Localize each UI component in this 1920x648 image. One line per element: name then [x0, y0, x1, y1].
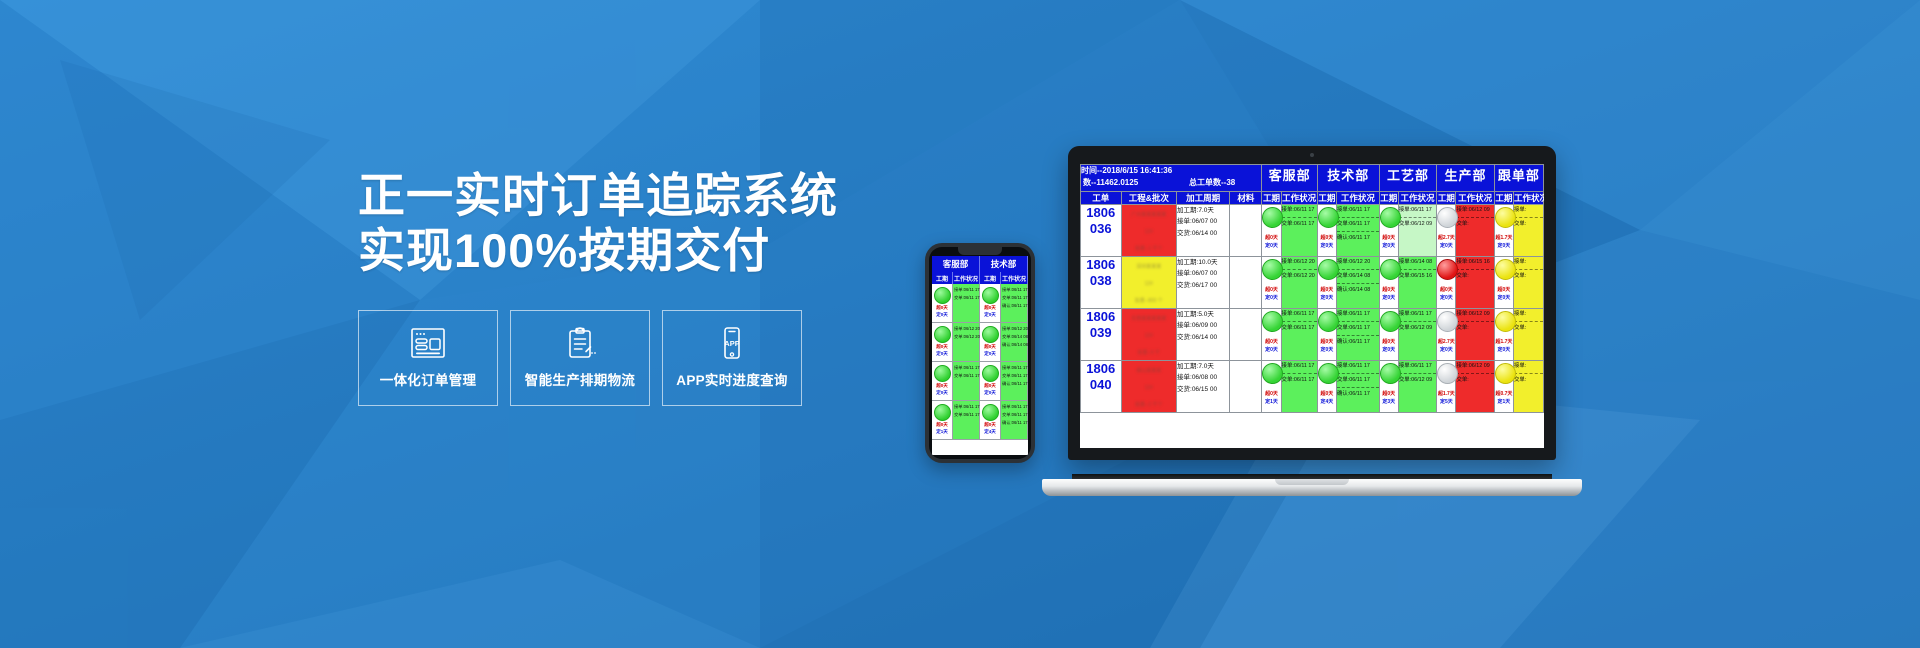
work-line: 接单:06/14 08: [1399, 257, 1436, 268]
status-dot-green-icon: [934, 404, 951, 421]
overdue-tag: 超0天: [1262, 234, 1280, 242]
laptop-base: [1042, 479, 1582, 496]
phone-work-cell-jishu[interactable]: 接单:06/11 17交单:06/11 17确认:06/11 17: [1001, 401, 1028, 439]
due-tag: 定0天: [1495, 346, 1513, 354]
phone-notch: [958, 247, 1002, 255]
divider: [1399, 217, 1436, 218]
work-line: 交单:06/11 17: [1282, 375, 1317, 386]
overdue-tag: 超0天: [1318, 338, 1336, 346]
divider: [1282, 373, 1317, 374]
work-line: 接单:06/12 20: [1002, 325, 1026, 333]
phone-row-list: 超0天定0天接单:06/11 17交单:06/11 17超0天定0天接单:06/…: [932, 284, 1028, 440]
work-line: 接单:06/11 17: [1399, 309, 1436, 320]
status-dot-green-icon: [1380, 311, 1401, 332]
overdue-tag: 超0天: [984, 383, 996, 389]
work-status-cell-跟单部[interactable]: 接单:交单:: [1514, 205, 1544, 257]
col-header-gongqi-jishu: 工期: [1317, 192, 1336, 205]
cycle-line: 加工期:7.0天: [1177, 361, 1229, 372]
overdue-tag: 超0天: [1318, 286, 1336, 294]
due-tag: 定5天: [1437, 398, 1455, 406]
overdue-tag: 超0天: [1380, 286, 1398, 294]
phone-table-row[interactable]: 超0天定0天接单:06/11 17交单:06/11 17超0天定0天接单:06/…: [932, 362, 1028, 401]
work-line: 接单:: [1514, 309, 1543, 320]
status-dot-green-icon: [1318, 259, 1339, 280]
duration-cell-工艺部[interactable]: 超0天定3天: [1379, 361, 1398, 413]
phone-work-cell-jishu[interactable]: 接单:06/12 20交单:06/14 08确认:06/14 08: [1001, 323, 1028, 361]
overdue-tag: 超0天: [984, 305, 996, 311]
divider: [1456, 373, 1493, 374]
processing-cycle-cell[interactable]: 加工期:10.0天接单:06/07 00交货:06/17 00: [1177, 257, 1230, 309]
due-tag: 定4天: [984, 429, 996, 435]
phone-status-cell-kefu[interactable]: 超0天定1天: [932, 401, 953, 439]
phone-table-row[interactable]: 超0天定0天接单:06/12 20交单:06/12 20超0天定0天接单:06/…: [932, 323, 1028, 362]
work-line: 接单:06/11 17: [1002, 403, 1026, 411]
work-line: 接单:06/11 17: [1337, 205, 1379, 216]
divider: [1456, 321, 1493, 322]
divider: [1337, 283, 1379, 284]
overdue-tag: 超0天: [1262, 286, 1280, 294]
system-time: 时间--2018/6/15 16:41:36: [1081, 165, 1261, 176]
work-line: 确认:06/11 17: [1337, 233, 1379, 244]
overdue-tag: 超1.7天: [1495, 338, 1513, 346]
work-order-cell[interactable]: 1806040: [1081, 361, 1122, 413]
cycle-line: 交货:06/14 00: [1177, 228, 1229, 239]
dept-header-gendan: 跟单部: [1494, 165, 1543, 192]
divider: [1514, 321, 1543, 322]
duration-cell-客服部[interactable]: 超0天定1天: [1262, 361, 1281, 413]
processing-cycle-cell[interactable]: 加工期:7.0天接单:06/08 00交货:06/15 00: [1177, 361, 1230, 413]
feature-label: 智能生产排期物流: [525, 369, 635, 389]
col-header-status-kefu: 工作状况: [1281, 192, 1317, 205]
mobile-app-icon: APP: [712, 326, 752, 360]
work-line: 确认:06/11 17: [1002, 302, 1026, 310]
work-order-cell[interactable]: 1806036: [1081, 205, 1122, 257]
due-tag: 定0天: [1318, 346, 1336, 354]
work-status-cell-客服部[interactable]: 接单:06/11 17交单:06/11 17: [1281, 361, 1317, 413]
due-tag: 定0天: [984, 351, 996, 357]
work-line: 交单:: [1514, 323, 1543, 334]
phone-sub-status-2: 工作状况: [1001, 272, 1028, 284]
work-line: 交单:06/11 17: [954, 294, 978, 302]
duration-cell-技术部[interactable]: 超0天定0天: [1317, 257, 1336, 309]
table-body: 1806036广州某某某某某12#批量--1 千个加工期:7.0天接单:06/0…: [1081, 205, 1544, 413]
col-header-gongcheng-pici: 工程&批次: [1121, 192, 1176, 205]
work-line: 交单:06/11 17: [1002, 411, 1026, 419]
work-order-prefix: 1806: [1081, 257, 1121, 273]
work-line: 接单:06/12 20: [954, 325, 978, 333]
due-tag: 定0天: [936, 351, 948, 357]
duration-cell-跟单部[interactable]: 超1.7天定0天: [1494, 309, 1513, 361]
status-dot-green-icon: [1262, 363, 1283, 384]
duration-cell-生产部[interactable]: 超2.7天定0天: [1437, 309, 1456, 361]
dept-header-kefu: 客服部: [1262, 165, 1317, 192]
processing-cycle-cell[interactable]: 加工期:7.0天接单:06/07 00交货:06/14 00: [1177, 205, 1230, 257]
batch-line: 12#: [1122, 274, 1176, 291]
divider: [1337, 321, 1379, 322]
phone-screen[interactable]: 客服部 技术部 工期 工作状况 工期 工作状况 超0天定0天接单:06/11 1…: [932, 256, 1028, 455]
work-status-cell-工艺部[interactable]: 接单:06/11 17交单:06/12 09: [1398, 361, 1436, 413]
duration-cell-跟单部[interactable]: 超0.7天定1天: [1494, 361, 1513, 413]
work-line: 交单:06/11 17: [1002, 294, 1026, 302]
material-cell[interactable]: [1230, 205, 1262, 257]
phone-dept-kefu: 客服部: [932, 256, 980, 272]
due-tag: 定0天: [1262, 346, 1280, 354]
work-status-cell-生产部[interactable]: 接单:06/12 09交单:: [1456, 309, 1494, 361]
divider: [1399, 321, 1436, 322]
due-tag: 定0天: [1262, 294, 1280, 302]
work-line: 接单:06/11 17: [954, 403, 978, 411]
overdue-tag: 超0天: [936, 383, 948, 389]
project-batch-cell[interactable]: 广州某某某某某12#批量--1 千个: [1121, 205, 1176, 257]
table-column-header-row: 工单 工程&批次 加工周期 材料 工期 工作状况 工期 工作状况 工期 工作状况…: [1081, 192, 1544, 205]
work-line: 交单:06/12 09: [1399, 323, 1436, 334]
cycle-line: 接单:06/07 00: [1177, 216, 1229, 227]
work-status-cell-客服部[interactable]: 接单:06/11 17交单:06/11 17: [1281, 309, 1317, 361]
laptop-screen[interactable]: 时间--2018/6/15 16:41:36 数--11462.0125 总工单…: [1080, 164, 1544, 448]
work-status-cell-客服部[interactable]: 接单:06/11 17交单:06/11 17: [1281, 205, 1317, 257]
due-tag: 定0天: [1437, 346, 1455, 354]
col-header-gongqi-gongyi: 工期: [1379, 192, 1398, 205]
phone-sub-status-1: 工作状况: [953, 272, 980, 284]
work-order-prefix: 1806: [1081, 361, 1121, 377]
work-status-cell-技术部[interactable]: 接单:06/11 17交单:06/11 17确认:06/11 17: [1337, 205, 1380, 257]
col-header-cailiao: 材料: [1230, 192, 1262, 205]
work-line: 接单:: [1514, 361, 1543, 372]
duration-cell-工艺部[interactable]: 超0天定0天: [1379, 205, 1398, 257]
work-status-cell-客服部[interactable]: 接单:06/12 20交单:06/12 20: [1281, 257, 1317, 309]
batch-line: 批量--2 千个: [1122, 395, 1176, 412]
webcam-icon: [1310, 153, 1314, 157]
col-header-gongqi-gendan: 工期: [1494, 192, 1513, 205]
status-dot-green-icon: [1318, 207, 1339, 228]
work-line: 交单:06/11 17: [954, 411, 978, 419]
project-batch-cell[interactable]: 佛山某某某12#批量--2 千个: [1121, 361, 1176, 413]
status-dot-green-icon: [1318, 311, 1339, 332]
due-tag: 定0天: [1380, 242, 1398, 250]
overdue-tag: 超0天: [1262, 390, 1280, 398]
divider: [1399, 373, 1436, 374]
divider: [1456, 217, 1493, 218]
phone-work-cell-kefu[interactable]: 接单:06/11 17交单:06/11 17: [953, 284, 980, 322]
duration-cell-技术部[interactable]: 超0天定0天: [1317, 309, 1336, 361]
due-tag: 定0天: [936, 312, 948, 318]
feature-label: 一体化订单管理: [380, 369, 477, 389]
status-dot-green-icon: [1380, 207, 1401, 228]
work-order-suffix: 039: [1081, 325, 1121, 341]
headline-line-2: 实现100%按期交付: [358, 223, 918, 278]
work-line: 接单:06/12 09: [1456, 361, 1493, 372]
work-line: 交单:06/12 20: [1282, 271, 1317, 282]
phone-table-row[interactable]: 超0天定0天接单:06/11 17交单:06/11 17超0天定0天接单:06/…: [932, 284, 1028, 323]
duration-cell-生产部[interactable]: 超1.7天定5天: [1437, 361, 1456, 413]
dept-header-jishu: 技术部: [1317, 165, 1379, 192]
table-row[interactable]: 1806036广州某某某某某12#批量--1 千个加工期:7.0天接单:06/0…: [1081, 205, 1544, 257]
duration-cell-跟单部[interactable]: 超0天定0天: [1494, 257, 1513, 309]
work-line: 接单:06/11 17: [1002, 364, 1026, 372]
divider: [1514, 269, 1543, 270]
work-status-cell-技术部[interactable]: 接单:06/11 17交单:06/11 17确认:06/11 17: [1337, 309, 1380, 361]
status-dot-green-icon: [1262, 259, 1283, 280]
feature-app-progress[interactable]: APP APP实时进度查询: [662, 310, 802, 406]
work-line: 接单:06/12 09: [1456, 205, 1493, 216]
cycle-line: 交货:06/17 00: [1177, 280, 1229, 291]
order-tracking-table[interactable]: 时间--2018/6/15 16:41:36 数--11462.0125 总工单…: [1080, 164, 1544, 413]
divider: [1337, 335, 1379, 336]
phone-status-cell-jishu[interactable]: 超0天定0天: [980, 284, 1001, 322]
duration-cell-生产部[interactable]: 超2.7天定0天: [1437, 205, 1456, 257]
phone-status-cell-jishu[interactable]: 超0天定4天: [980, 401, 1001, 439]
col-header-gongdan: 工单: [1081, 192, 1122, 205]
batch-line: 12#: [1122, 222, 1176, 239]
work-line: 确认:06/11 17: [1337, 337, 1379, 348]
overdue-tag: 超0天: [936, 344, 948, 350]
work-status-cell-跟单部[interactable]: 接单:交单:: [1514, 361, 1544, 413]
col-header-status-gendan: 工作状况: [1514, 192, 1544, 205]
divider: [1282, 269, 1317, 270]
work-line: 接单:06/11 17: [1282, 205, 1317, 216]
overdue-tag: 超1.7天: [1495, 234, 1513, 242]
dept-header-gongyi: 工艺部: [1379, 165, 1437, 192]
status-dot-green-icon: [982, 287, 999, 304]
work-line: 接单:06/12 09: [1456, 309, 1493, 320]
overdue-tag: 超0天: [984, 422, 996, 428]
work-line: 交单:: [1456, 271, 1493, 282]
batch-line: 12#: [1122, 378, 1176, 395]
due-tag: 定1天: [936, 429, 948, 435]
phone-status-cell-kefu[interactable]: 超0天定0天: [932, 362, 953, 400]
work-line: 交单:: [1514, 219, 1543, 230]
phone-department-header: 客服部 技术部: [932, 256, 1028, 272]
overdue-tag: 超0天: [1318, 390, 1336, 398]
work-line: 交单:06/11 17: [954, 372, 978, 380]
status-dot-yellow-icon: [1495, 207, 1516, 228]
overdue-tag: 超0天: [1380, 234, 1398, 242]
status-dot-green-icon: [1318, 363, 1339, 384]
work-status-cell-工艺部[interactable]: 接单:06/11 17交单:06/12 09: [1398, 309, 1436, 361]
divider: [1337, 231, 1379, 232]
phone-table-row[interactable]: 超0天定1天接单:06/11 17交单:06/11 17超0天定4天接单:06/…: [932, 401, 1028, 440]
overdue-tag: 超1.7天: [1437, 390, 1455, 398]
due-tag: 定0天: [1437, 242, 1455, 250]
work-line: 接单:06/11 17: [954, 364, 978, 372]
work-line: 交单:06/11 17: [1282, 219, 1317, 230]
work-line: 接单:06/11 17: [1399, 361, 1436, 372]
work-line: 交单:: [1456, 375, 1493, 386]
status-dot-green-icon: [982, 365, 999, 382]
work-line: 接单:: [1514, 205, 1543, 216]
work-order-suffix: 038: [1081, 273, 1121, 289]
divider: [1337, 217, 1379, 218]
table-info-row: 时间--2018/6/15 16:41:36 数--11462.0125 总工单…: [1081, 165, 1544, 192]
work-line: 交单:06/14 08: [1337, 271, 1379, 282]
work-line: 交单:: [1456, 219, 1493, 230]
work-line: 接单:06/11 17: [1002, 286, 1026, 294]
status-dot-green-icon: [934, 287, 951, 304]
batch-line: 佛山某某某: [1122, 361, 1176, 378]
status-dot-green-icon: [934, 365, 951, 382]
phone-work-cell-kefu[interactable]: 接单:06/12 20交单:06/12 20: [953, 323, 980, 361]
phone-status-cell-jishu[interactable]: 超0天定0天: [980, 323, 1001, 361]
duration-cell-技术部[interactable]: 超0天定4天: [1317, 361, 1336, 413]
work-order-cell[interactable]: 1806038: [1081, 257, 1122, 309]
status-dot-green-icon: [982, 326, 999, 343]
phone-status-cell-kefu[interactable]: 超0天定0天: [932, 284, 953, 322]
hero-copy: 正一实时订单追踪系统 实现100%按期交付 一体化订单管理: [358, 168, 918, 406]
overdue-tag: 超0天: [1380, 338, 1398, 346]
batch-line: 东莞某某某某某: [1122, 309, 1176, 326]
overdue-tag: 超0天: [1380, 390, 1398, 398]
overdue-tag: 超2.7天: [1437, 338, 1455, 346]
col-header-status-jishu: 工作状况: [1337, 192, 1380, 205]
overdue-tag: 超0天: [936, 422, 948, 428]
due-tag: 定0天: [1380, 294, 1398, 302]
table-row[interactable]: 1806039东莞某某某某某12#批量--5 千加工期:5.0天接单:06/09…: [1081, 309, 1544, 361]
work-order-cell[interactable]: 1806039: [1081, 309, 1122, 361]
work-status-cell-技术部[interactable]: 接单:06/11 17交单:06/11 17确认:06/11 17: [1337, 361, 1380, 413]
material-cell[interactable]: [1230, 361, 1262, 413]
work-line: 交单:: [1514, 271, 1543, 282]
due-tag: 定0天: [1318, 242, 1336, 250]
work-status-cell-跟单部[interactable]: 接单:交单:: [1514, 309, 1544, 361]
due-tag: 定0天: [1495, 242, 1513, 250]
work-line: 接单:06/12 20: [1337, 257, 1379, 268]
material-cell[interactable]: [1230, 257, 1262, 309]
work-line: 交单:: [1514, 375, 1543, 386]
due-tag: 定0天: [936, 390, 948, 396]
due-tag: 定0天: [984, 312, 996, 318]
work-line: 交单:06/11 17: [1337, 323, 1379, 334]
duration-cell-客服部[interactable]: 超0天定0天: [1262, 257, 1281, 309]
work-line: 接单:06/11 17: [954, 286, 978, 294]
divider: [1514, 217, 1543, 218]
duration-cell-生产部[interactable]: 超0天定0天: [1437, 257, 1456, 309]
work-line: 确认:06/11 17: [1337, 389, 1379, 400]
cycle-line: 接单:06/07 00: [1177, 268, 1229, 279]
total-orders: 总工单数--38: [1189, 177, 1235, 188]
work-order-suffix: 040: [1081, 377, 1121, 393]
work-line: 确认:06/11 17: [1002, 419, 1026, 427]
phone-work-cell-jishu[interactable]: 接单:06/11 17交单:06/11 17确认:06/11 17: [1001, 362, 1028, 400]
work-status-cell-生产部[interactable]: 接单:06/12 09交单:: [1456, 205, 1494, 257]
project-batch-cell[interactable]: 深圳某某某12#批量--800 个: [1121, 257, 1176, 309]
phone-sub-gongqi-1: 工期: [932, 272, 953, 284]
phone-subheader: 工期 工作状况 工期 工作状况: [932, 272, 1028, 284]
work-status-cell-生产部[interactable]: 接单:06/15 16交单:: [1456, 257, 1494, 309]
overdue-tag: 超0天: [984, 344, 996, 350]
table-row[interactable]: 1806040佛山某某某12#批量--2 千个加工期:7.0天接单:06/08 …: [1081, 361, 1544, 413]
divider: [1282, 217, 1317, 218]
duration-cell-技术部[interactable]: 超0天定0天: [1317, 205, 1336, 257]
due-tag: 定0天: [984, 390, 996, 396]
phone-status-cell-jishu[interactable]: 超0天定0天: [980, 362, 1001, 400]
cycle-line: 接单:06/09 00: [1177, 320, 1229, 331]
batch-line: 批量--5 千: [1122, 343, 1176, 360]
work-line: 交单:: [1456, 323, 1493, 334]
cycle-line: 加工期:5.0天: [1177, 309, 1229, 320]
work-status-cell-工艺部[interactable]: 接单:06/14 08交单:06/15 16: [1398, 257, 1436, 309]
batch-line: 12#: [1122, 326, 1176, 343]
divider: [1514, 373, 1543, 374]
divider: [1337, 269, 1379, 270]
col-header-jiagong-zhouqi: 加工周期: [1177, 192, 1230, 205]
table-row[interactable]: 1806038深圳某某某12#批量--800 个加工期:10.0天接单:06/0…: [1081, 257, 1544, 309]
feature-label: APP实时进度查询: [676, 369, 787, 389]
work-line: 交单:06/12 09: [1399, 375, 1436, 386]
divider: [1399, 269, 1436, 270]
overdue-tag: 超0天: [1437, 286, 1455, 294]
work-line: 交单:06/11 17: [1337, 219, 1379, 230]
overdue-tag: 超0天: [936, 305, 948, 311]
work-line: 交单:06/14 08: [1002, 333, 1026, 341]
phone-work-cell-kefu[interactable]: 接单:06/11 17交单:06/11 17: [953, 401, 980, 439]
work-line: 接单:06/11 17: [1337, 361, 1379, 372]
processing-cycle-cell[interactable]: 加工期:5.0天接单:06/09 00交货:06/14 00: [1177, 309, 1230, 361]
status-dot-red-icon: [1437, 259, 1458, 280]
work-order-suffix: 036: [1081, 221, 1121, 237]
divider: [1456, 269, 1493, 270]
work-order-prefix: 1806: [1081, 309, 1121, 325]
material-cell[interactable]: [1230, 309, 1262, 361]
status-dot-green-icon: [982, 404, 999, 421]
phone-work-cell-jishu[interactable]: 接单:06/11 17交单:06/11 17确认:06/11 17: [1001, 284, 1028, 322]
work-line: 确认:06/11 17: [1002, 380, 1026, 388]
work-line: 确认:06/14 08: [1002, 341, 1026, 349]
due-tag: 定4天: [1318, 398, 1336, 406]
work-line: 接单:: [1514, 257, 1543, 268]
due-tag: 定0天: [1380, 346, 1398, 354]
feature-production-schedule[interactable]: 智能生产排期物流: [510, 310, 650, 406]
work-line: 接单:06/11 17: [1282, 361, 1317, 372]
work-status-cell-跟单部[interactable]: 接单:交单:: [1514, 257, 1544, 309]
duration-cell-客服部[interactable]: 超0天定0天: [1262, 205, 1281, 257]
status-dot-yellow-icon: [1495, 259, 1516, 280]
work-status-cell-技术部[interactable]: 接单:06/12 20交单:06/14 08确认:06/14 08: [1337, 257, 1380, 309]
overdue-tag: 超0天: [1318, 234, 1336, 242]
due-tag: 定0天: [1262, 242, 1280, 250]
phone-dept-jishu: 技术部: [980, 256, 1028, 272]
work-line: 接单:06/12 20: [1282, 257, 1317, 268]
due-tag: 定3天: [1380, 398, 1398, 406]
work-line: 接单:06/15 16: [1456, 257, 1493, 268]
work-status-cell-工艺部[interactable]: 接单:06/11 17交单:06/12 09: [1398, 205, 1436, 257]
due-tag: 定0天: [1495, 294, 1513, 302]
work-status-cell-生产部[interactable]: 接单:06/12 09交单:: [1456, 361, 1494, 413]
cycle-line: 接单:06/08 00: [1177, 372, 1229, 383]
project-batch-cell[interactable]: 东莞某某某某某12#批量--5 千: [1121, 309, 1176, 361]
svg-text:APP: APP: [724, 339, 739, 348]
phone-status-cell-kefu[interactable]: 超0天定0天: [932, 323, 953, 361]
status-dot-green-icon: [1262, 311, 1283, 332]
dept-header-shengchan: 生产部: [1437, 165, 1495, 192]
phone-work-cell-kefu[interactable]: 接单:06/11 17交单:06/11 17: [953, 362, 980, 400]
batch-line: 深圳某某某: [1122, 257, 1176, 274]
status-dot-grey-icon: [1437, 311, 1458, 332]
duration-cell-跟单部[interactable]: 超1.7天定0天: [1494, 205, 1513, 257]
work-line: 交单:06/11 17: [1002, 372, 1026, 380]
status-dot-green-icon: [934, 326, 951, 343]
col-header-status-shengchan: 工作状况: [1456, 192, 1494, 205]
cycle-line: 加工期:7.0天: [1177, 205, 1229, 216]
feature-order-management[interactable]: 一体化订单管理: [358, 310, 498, 406]
duration-cell-工艺部[interactable]: 超0天定0天: [1379, 309, 1398, 361]
duration-cell-客服部[interactable]: 超0天定0天: [1262, 309, 1281, 361]
due-tag: 定0天: [1318, 294, 1336, 302]
status-dot-green-icon: [1262, 207, 1283, 228]
duration-cell-工艺部[interactable]: 超0天定0天: [1379, 257, 1398, 309]
order-management-icon: [408, 326, 448, 360]
headline-line-1: 正一实时订单追踪系统: [358, 168, 918, 223]
divider: [1337, 387, 1379, 388]
